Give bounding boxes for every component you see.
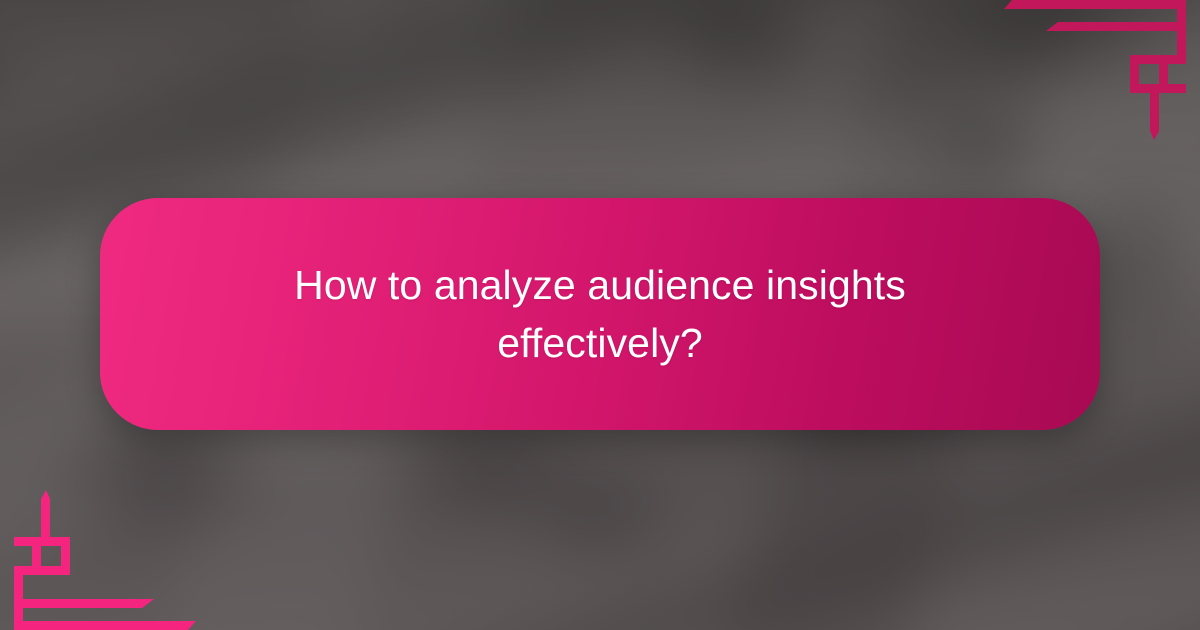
- question-title: How to analyze audience insights effecti…: [100, 256, 1100, 372]
- question-card-canvas: How to analyze audience insights effecti…: [0, 0, 1200, 630]
- question-card[interactable]: How to analyze audience insights effecti…: [100, 198, 1100, 430]
